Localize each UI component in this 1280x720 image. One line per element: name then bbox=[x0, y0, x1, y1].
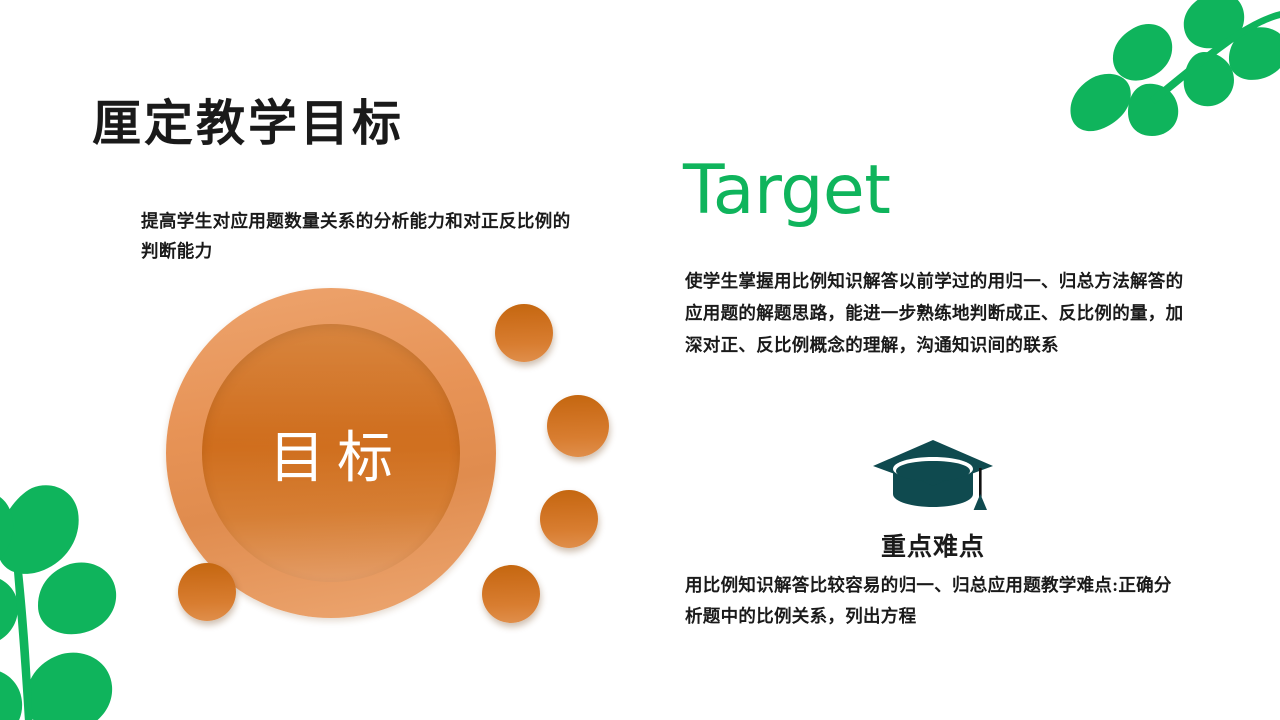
left-description-text: 提高学生对应用题数量关系的分析能力和对正反比例的判断能力 bbox=[141, 206, 581, 266]
satellite-circle bbox=[540, 490, 598, 548]
focus-heading: 重点难点 bbox=[683, 527, 1183, 563]
graduation-cap-icon bbox=[871, 438, 995, 512]
satellite-circle bbox=[178, 563, 236, 621]
focus-description-text: 用比例知识解答比较容易的归一、归总应用题教学难点:正确分析题中的比例关系，列出方… bbox=[685, 570, 1185, 632]
left-column: 厘定教学目标 提高学生对应用题数量关系的分析能力和对正反比例的判断能力 目标 bbox=[0, 0, 660, 720]
target-circle-graphic: 目标 bbox=[150, 280, 650, 640]
page-title: 厘定教学目标 bbox=[92, 96, 404, 152]
graduation-cap-wrapper bbox=[683, 438, 1183, 512]
satellite-circle bbox=[482, 565, 540, 623]
circle-label: 目标 bbox=[202, 324, 460, 582]
right-column: Target 使学生掌握用比例知识解答以前学过的用归一、归总方法解答的应用题的解… bbox=[683, 0, 1203, 720]
target-description-text: 使学生掌握用比例知识解答以前学过的用归一、归总方法解答的应用题的解题思路，能进一… bbox=[685, 266, 1185, 362]
satellite-circle bbox=[547, 395, 609, 457]
slide-canvas: 厘定教学目标 提高学生对应用题数量关系的分析能力和对正反比例的判断能力 目标 T… bbox=[0, 0, 1280, 720]
target-heading: Target bbox=[683, 157, 890, 225]
satellite-circle bbox=[495, 304, 553, 362]
